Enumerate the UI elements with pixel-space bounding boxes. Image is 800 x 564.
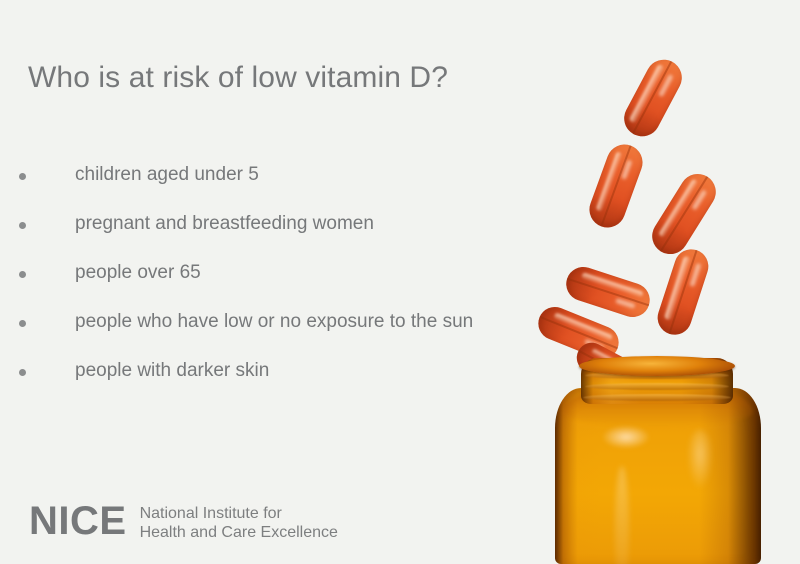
capsule-shell — [562, 263, 654, 322]
capsule-4 — [562, 263, 654, 322]
capsule-shell — [584, 139, 647, 232]
capsule-shell — [618, 53, 688, 142]
list-item-label: people who have low or no exposure to th… — [75, 310, 473, 334]
capsule-2 — [584, 139, 647, 232]
capsule-shell — [653, 245, 713, 339]
vitamin-capsules-photo — [470, 0, 800, 564]
capsule-shadow — [562, 263, 604, 305]
bottle-highlight — [603, 426, 649, 448]
list-item-label: people with darker skin — [75, 359, 269, 383]
list-item-label: children aged under 5 — [75, 163, 259, 187]
page-title: Who is at risk of low vitamin D? — [28, 59, 448, 97]
bottle-highlight — [687, 430, 713, 490]
capsule-5 — [653, 245, 713, 339]
nice-strapline: National Institute for Health and Care E… — [140, 504, 338, 542]
list-item-label: pregnant and breastfeeding women — [75, 212, 374, 236]
bottle-thread — [585, 383, 729, 390]
bottle-rim — [579, 356, 735, 376]
bullet-icon — [19, 173, 26, 180]
bullet-icon — [19, 222, 26, 229]
capsule-1 — [618, 53, 688, 142]
nice-logo: NICE National Institute for Health and C… — [29, 500, 338, 542]
bottle-thread — [583, 394, 731, 401]
bullet-icon — [19, 320, 26, 327]
bullet-icon — [19, 369, 26, 376]
capsule-3 — [645, 167, 722, 261]
nice-wordmark: NICE — [29, 500, 127, 542]
capsule-shell — [645, 167, 722, 261]
poster-canvas: Who is at risk of low vitamin D? childre… — [0, 0, 800, 564]
list-item-label: people over 65 — [75, 261, 201, 285]
pill-bottle — [555, 356, 763, 564]
bullet-icon — [19, 271, 26, 278]
